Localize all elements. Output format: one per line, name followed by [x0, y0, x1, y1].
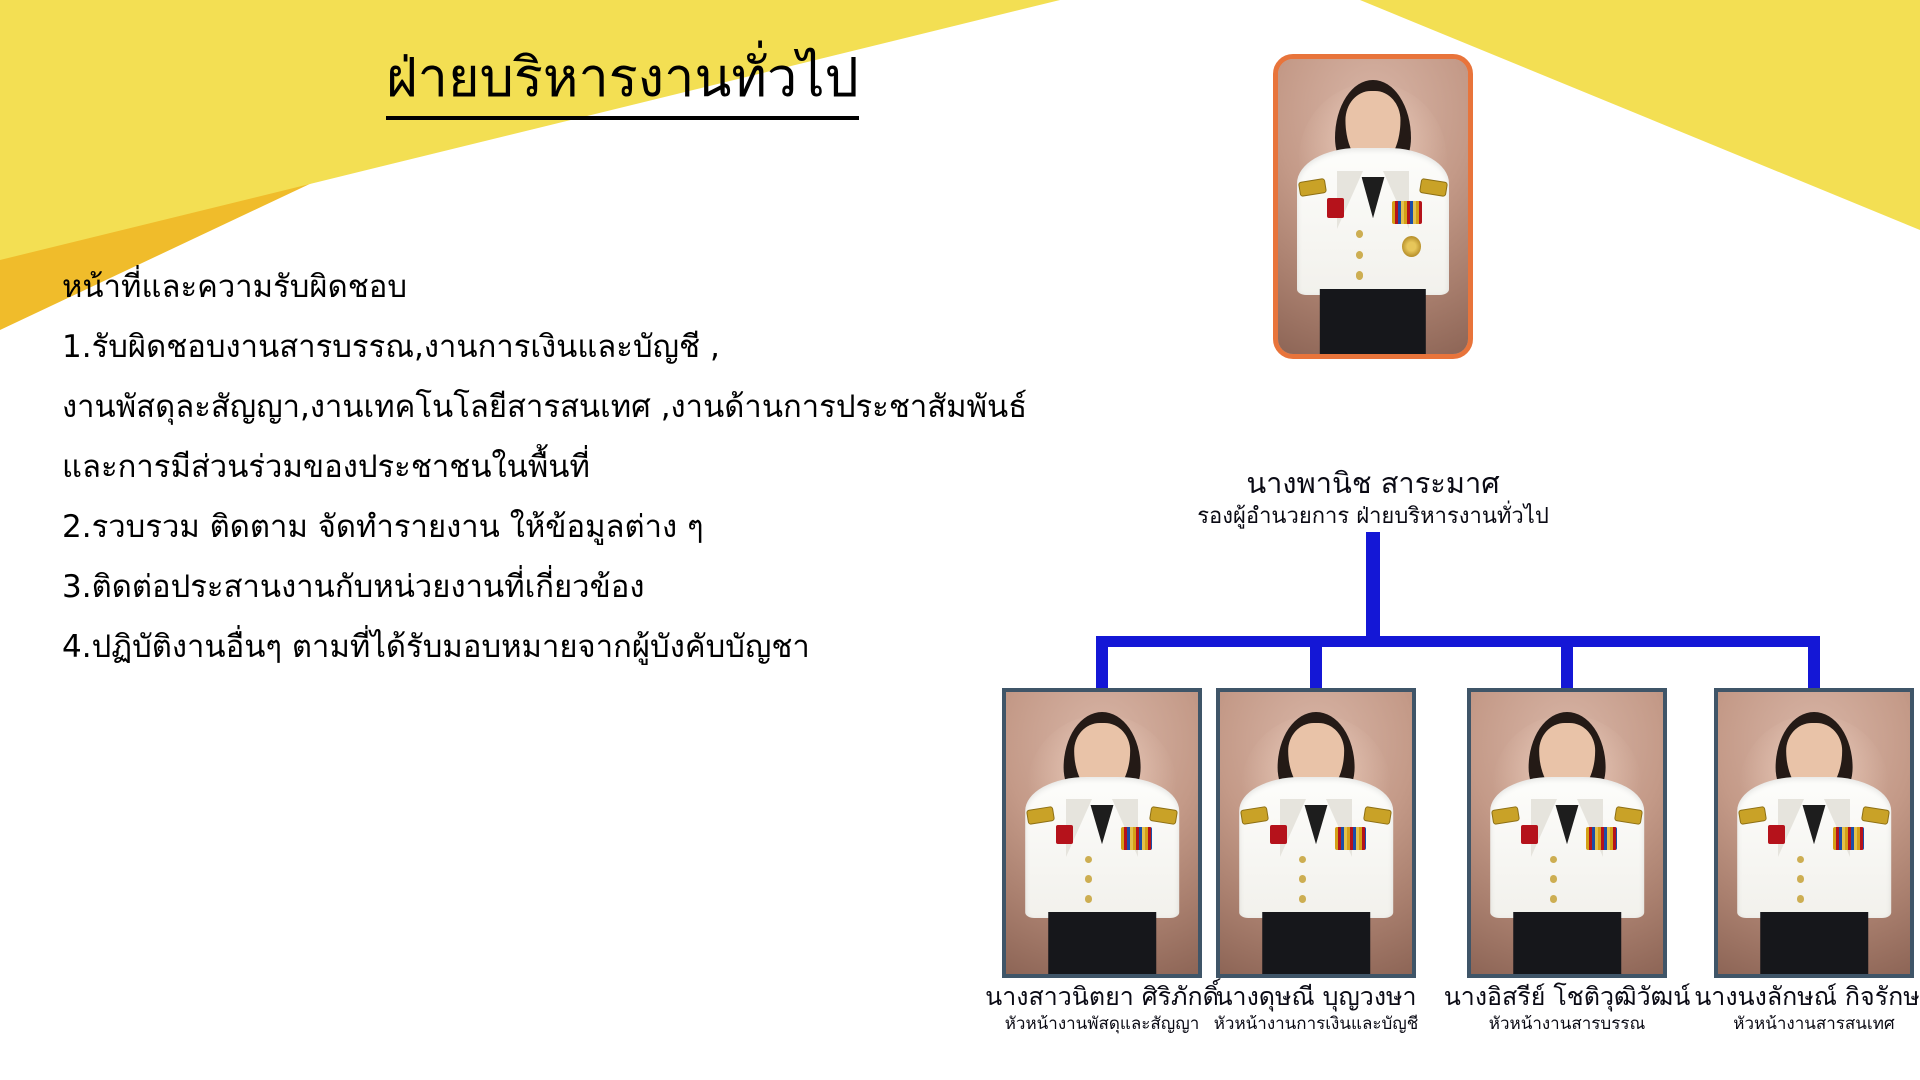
head-name: นางพานิช สาระมาศ	[1197, 466, 1549, 500]
member-portrait-photo-2	[1216, 688, 1416, 978]
page-title: ฝ่ายบริหารงานทั่วไป	[386, 44, 859, 120]
portrait-medal-ribbons	[1586, 827, 1617, 850]
portrait-skirt	[1760, 912, 1868, 974]
portrait-uniform-jacket	[1239, 777, 1393, 918]
responsibilities-heading: หน้าที่และความรับผิดชอบ	[62, 272, 1002, 303]
head-caption: นางพานิช สาระมาศ รองผู้อำนวยการ ฝ่ายบริห…	[1197, 466, 1549, 531]
slide-canvas: ฝ่ายบริหารงานทั่วไป หน้าที่และความรับผิด…	[0, 0, 1920, 1080]
connector-drop-1	[1096, 636, 1108, 688]
member-portrait-photo-1	[1002, 688, 1202, 978]
member-caption-1: นางสาวนิตยา ศิริภักดิ์ หัวหน้างานพัสดุแล…	[985, 982, 1219, 1034]
portrait-ribbon-bar	[1270, 825, 1287, 845]
member-caption-4: นางนงลักษณ์ กิจรักษา หัวหน้างานสารสนเทศ	[1694, 982, 1920, 1034]
member-name-2: นางดุษณี บุญวงษา	[1214, 982, 1419, 1012]
portrait-medal-ribbons	[1833, 827, 1864, 850]
portrait-skirt	[1048, 912, 1156, 974]
member-portrait-photo-3	[1467, 688, 1667, 978]
connector-vertical-stem	[1366, 532, 1380, 636]
portrait-uniform-jacket	[1490, 777, 1644, 918]
portrait-uniform-jacket	[1297, 148, 1449, 296]
responsibility-line-5: 3.ติดต่อประสานงานกับหน่วยงานที่เกี่ยวข้อ…	[62, 572, 1002, 603]
yellow-corner-wedge-shape	[0, 0, 1060, 260]
member-name-3: นางอิสรีย์ โชติวุฒิวัฒน์	[1444, 982, 1691, 1012]
portrait-medal-ribbons	[1121, 827, 1152, 850]
responsibility-line-6: 4.ปฏิบัติงานอื่นๆ ตามที่ได้รับมอบหมายจาก…	[62, 632, 1002, 663]
connector-drop-3	[1561, 636, 1573, 688]
portrait-medal-ribbons	[1335, 827, 1366, 850]
member-name-1: นางสาวนิตยา ศิริภักดิ์	[985, 982, 1219, 1012]
portrait-artwork	[1278, 59, 1468, 354]
portrait-uniform-jacket	[1737, 777, 1891, 918]
portrait-ribbon-bar	[1056, 825, 1073, 845]
portrait-artwork	[1006, 692, 1198, 974]
responsibility-line-2: งานพัสดุละสัญญา,งานเทคโนโลยีสารสนเทศ ,งา…	[62, 392, 1002, 423]
member-name-4: นางนงลักษณ์ กิจรักษา	[1694, 982, 1920, 1012]
portrait-button-bottom	[1356, 271, 1364, 279]
member-role-1: หัวหน้างานพัสดุและสัญญา	[985, 1014, 1219, 1034]
responsibility-line-1: 1.รับผิดชอบงานสารบรรณ,งานการเงินและบัญชี…	[62, 332, 1002, 363]
portrait-ribbon-bar	[1521, 825, 1538, 845]
member-caption-3: นางอิสรีย์ โชติวุฒิวัฒน์ หัวหน้างานสารบร…	[1444, 982, 1691, 1034]
connector-drop-4	[1808, 636, 1820, 688]
member-role-2: หัวหน้างานการเงินและบัญชี	[1214, 1014, 1419, 1034]
portrait-skirt	[1320, 289, 1426, 354]
connector-horizontal-bus	[1102, 636, 1814, 647]
responsibilities-block: หน้าที่และความรับผิดชอบ 1.รับผิดชอบงานสา…	[62, 272, 1002, 663]
portrait-skirt	[1262, 912, 1370, 974]
member-role-4: หัวหน้างานสารสนเทศ	[1694, 1014, 1920, 1034]
portrait-ribbon-bar	[1327, 198, 1344, 219]
member-portrait-photo-4	[1714, 688, 1914, 978]
portrait-ribbon-bar	[1768, 825, 1785, 845]
portrait-artwork	[1718, 692, 1910, 974]
portrait-medal-ribbons	[1392, 201, 1422, 225]
head-portrait-photo	[1273, 54, 1473, 359]
responsibility-line-3: และการมีส่วนร่วมของประชาชนในพื้นที่	[62, 452, 1002, 483]
portrait-artwork	[1471, 692, 1663, 974]
member-caption-2: นางดุษณี บุญวงษา หัวหน้างานการเงินและบัญ…	[1214, 982, 1419, 1034]
portrait-skirt	[1513, 912, 1621, 974]
head-role: รองผู้อำนวยการ ฝ่ายบริหารงานทั่วไป	[1197, 504, 1549, 530]
portrait-artwork	[1220, 692, 1412, 974]
portrait-uniform-jacket	[1025, 777, 1179, 918]
member-role-3: หัวหน้างานสารบรรณ	[1444, 1014, 1691, 1034]
portrait-insignia-badge	[1402, 236, 1421, 257]
responsibility-line-4: 2.รวบรวม ติดตาม จัดทำรายงาน ให้ข้อมูลต่า…	[62, 512, 1002, 543]
connector-drop-2	[1310, 636, 1322, 688]
